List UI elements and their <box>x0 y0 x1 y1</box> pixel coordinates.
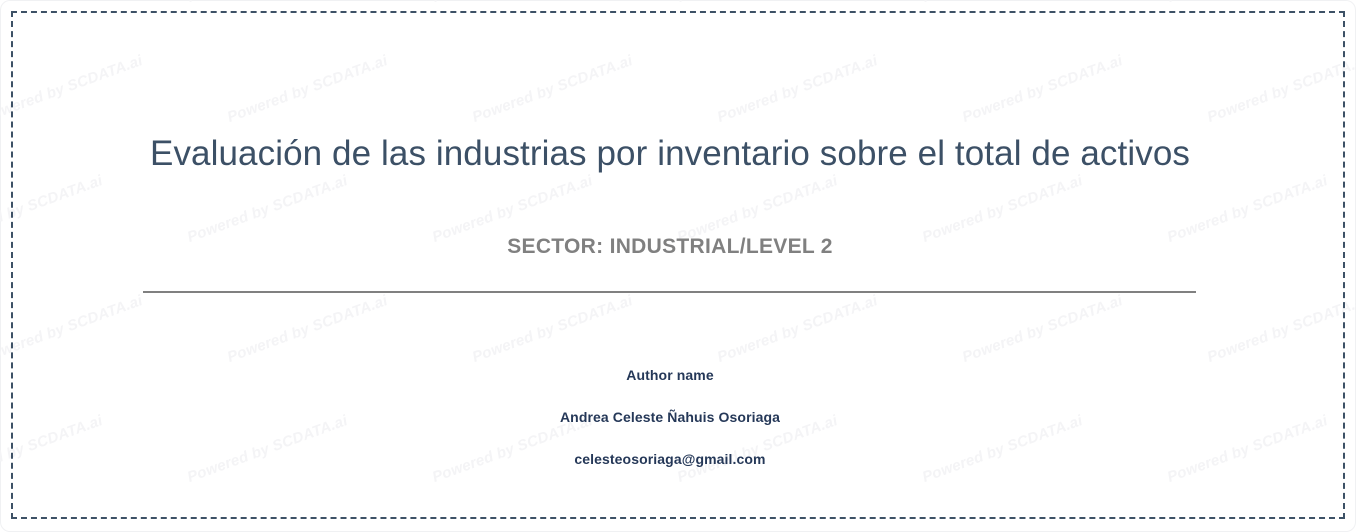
author-name-value: Andrea Celeste Ñahuis Osoriaga <box>143 383 1197 425</box>
author-heading-label: Author name <box>143 367 1197 383</box>
author-block: Author name Andrea Celeste Ñahuis Osoria… <box>143 367 1197 467</box>
horizontal-divider <box>143 291 1196 293</box>
page-title: Evaluación de las industrias por inventa… <box>143 133 1197 175</box>
author-email-value: celesteosoriaga@gmail.com <box>143 425 1197 467</box>
slide-subtitle: SECTOR: INDUSTRIAL/LEVEL 2 <box>143 235 1197 259</box>
slide-content: Evaluación de las industrias por inventa… <box>0 0 1356 532</box>
title-block: Evaluación de las industrias por inventa… <box>143 133 1197 175</box>
slide-card: Powered by SCDATA.aiPowered by SCDATA.ai… <box>0 0 1356 532</box>
